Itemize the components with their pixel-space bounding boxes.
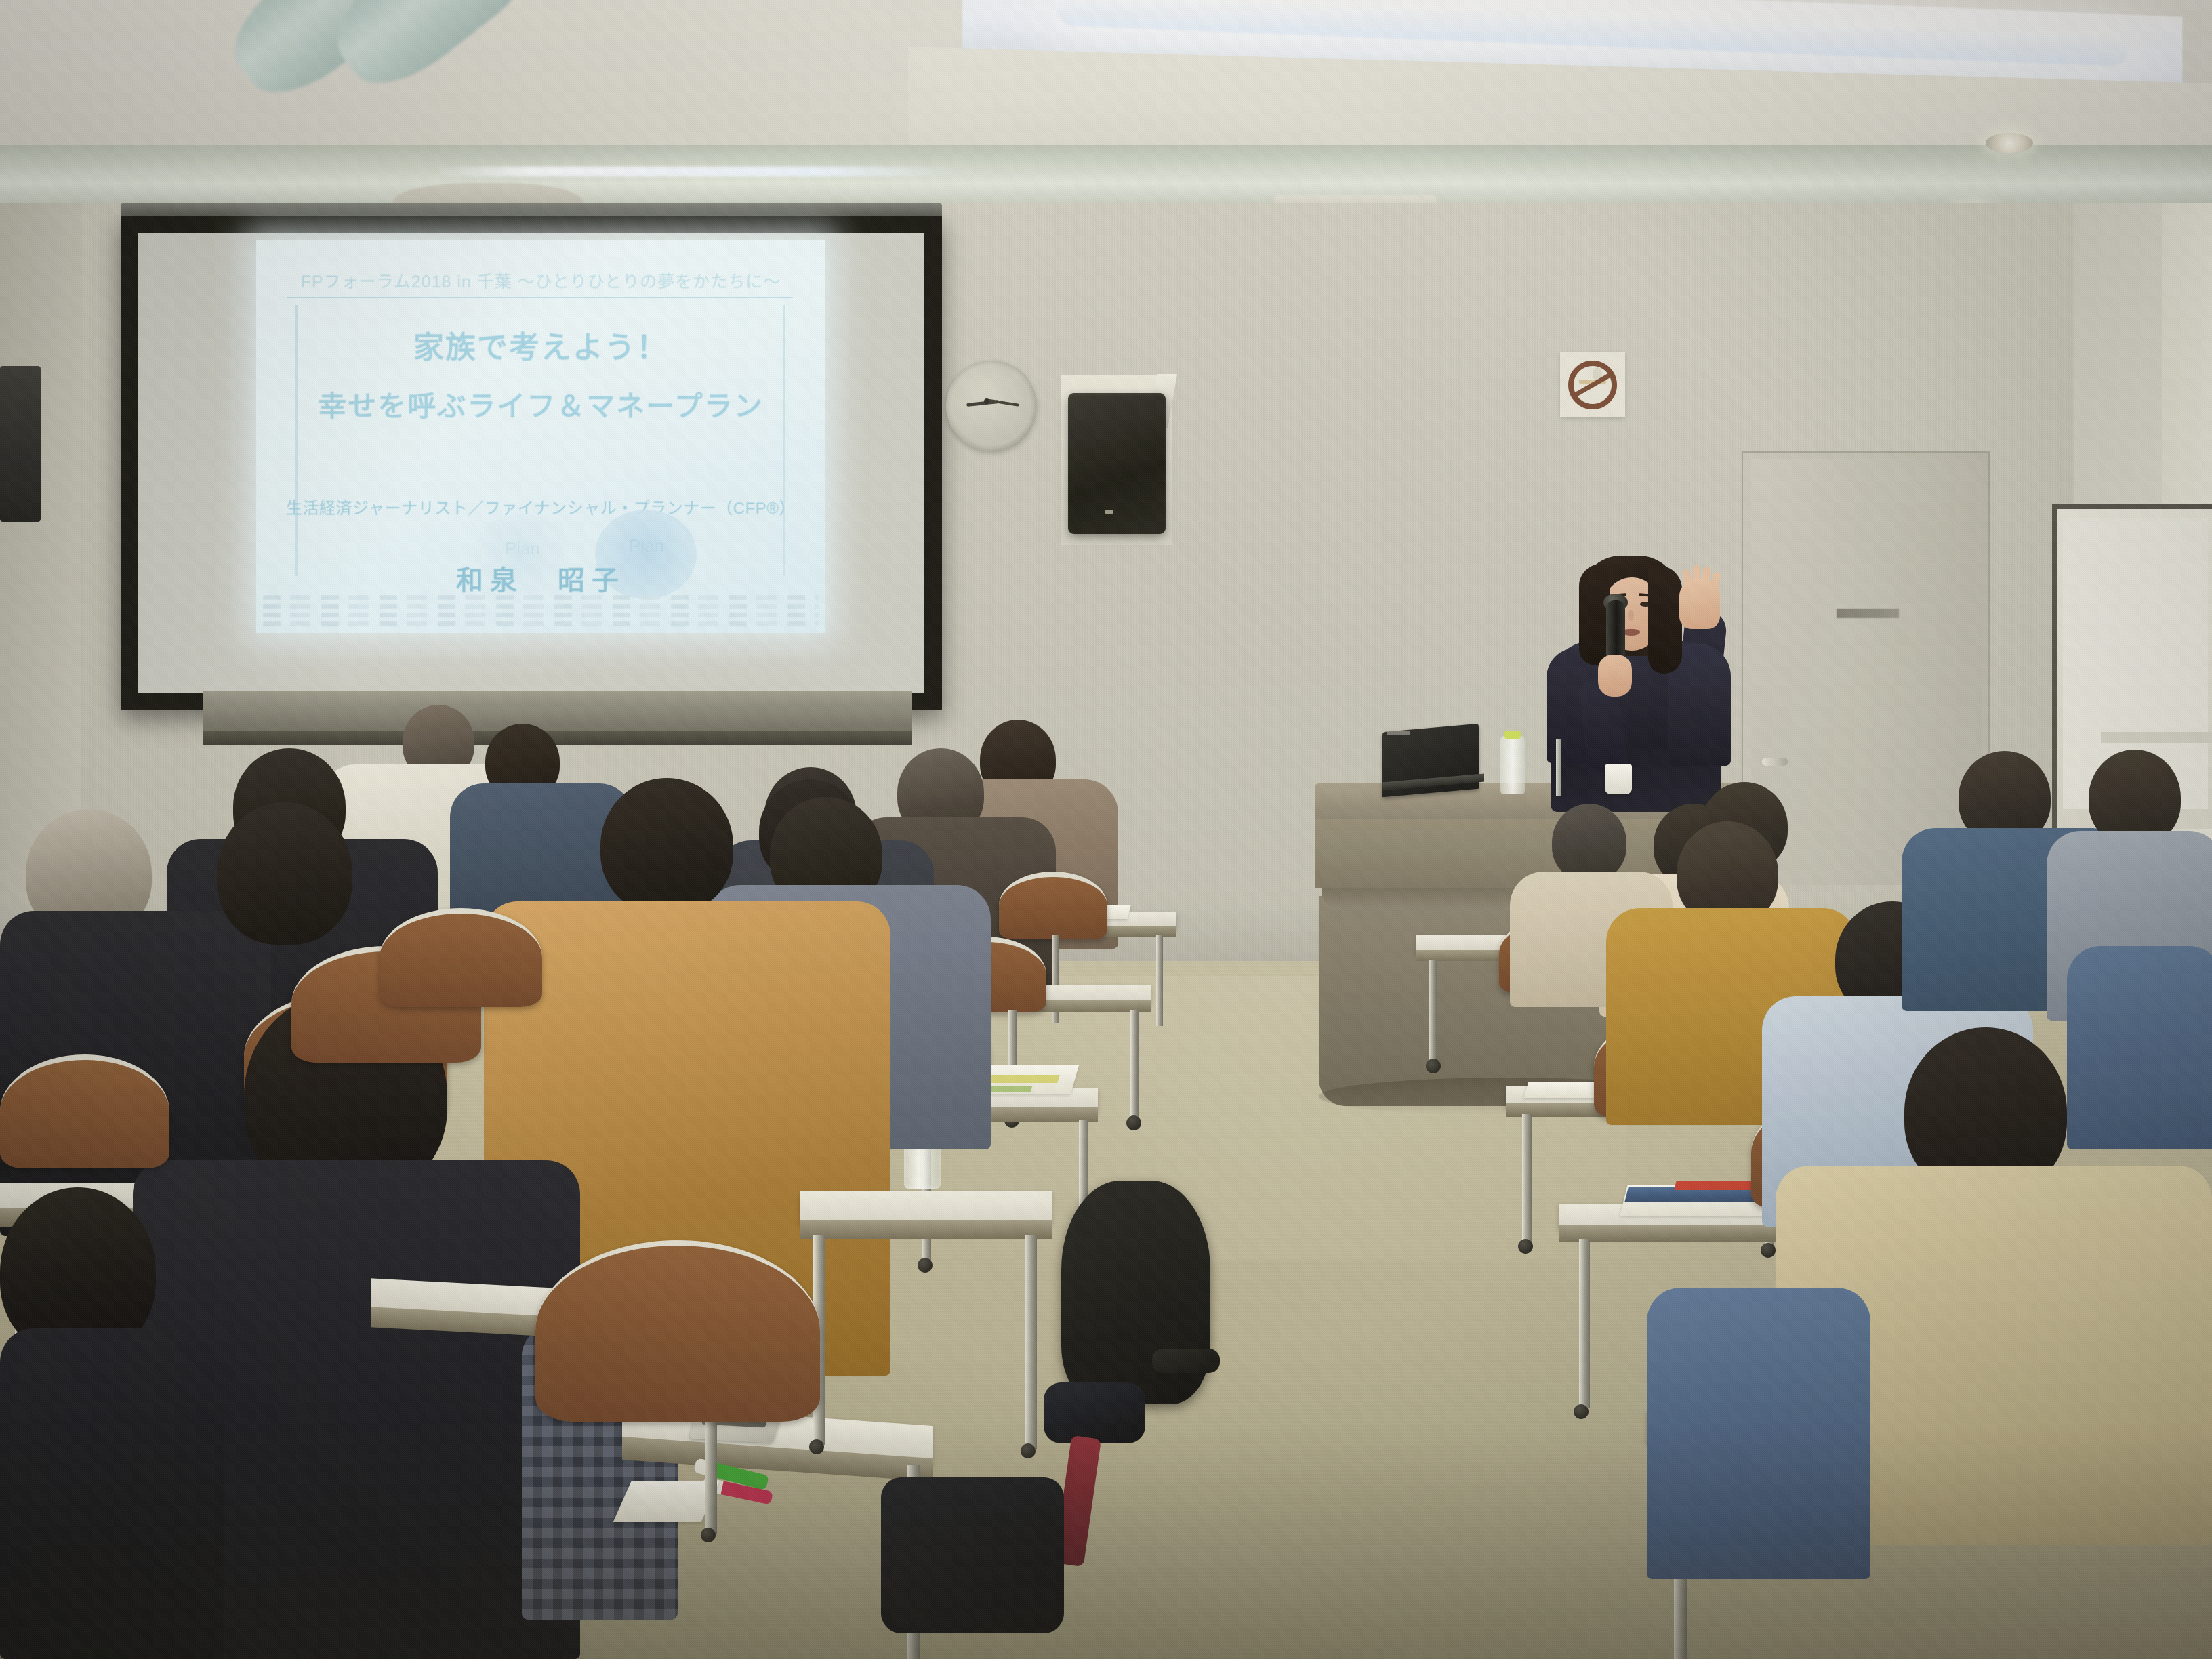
microphone-stand[interactable] (1556, 739, 1561, 796)
clock-center-pin (984, 398, 989, 404)
seminar-room-photo: FPフォーラム2018 in 千葉 ～ひとりひとりの夢をかたちに～ 家族で考えよ… (0, 0, 2212, 1659)
desk-leg (1522, 1114, 1532, 1243)
clock-face (951, 366, 1031, 446)
desk-caster (1426, 1059, 1441, 1073)
projection-screen-frame: FPフォーラム2018 in 千葉 ～ひとりひとりの夢をかたちに～ 家族で考えよ… (121, 216, 942, 710)
desk-leg (1156, 935, 1163, 1026)
chair[interactable] (999, 872, 1107, 939)
audience-head (600, 778, 733, 914)
desk-caster (1518, 1239, 1533, 1254)
desk-edge (800, 1220, 1052, 1239)
slide-kicker: FPフォーラム2018 in 千葉 ～ひとりひとりの夢をかたちに～ (256, 268, 825, 293)
slide-heading-1: 家族で考えよう！ (256, 323, 825, 367)
desk-leg (1025, 1235, 1037, 1449)
chair[interactable] (380, 908, 542, 1007)
presenter-hair-right (1648, 565, 1682, 674)
wall-clock (946, 361, 1037, 451)
slide-logo-right-text: Plan (599, 535, 694, 556)
desk (800, 1191, 1052, 1224)
audience-body (2067, 946, 2212, 1149)
slide-divider (287, 297, 793, 298)
speaker-led-icon (1105, 510, 1113, 514)
water-bottle[interactable] (1500, 736, 1525, 794)
ceiling-light-glow (434, 167, 962, 176)
desk-caster (1574, 1404, 1589, 1419)
audience-head (217, 802, 352, 945)
wall-speaker-left (0, 366, 41, 522)
screen-shelf-lip (203, 731, 912, 745)
slide-heading-2: 幸せを呼ぶライフ＆マネープラン (256, 384, 825, 425)
slide-footer-text (263, 595, 819, 632)
whiteboard-tray (2101, 732, 2212, 743)
wall-speaker (1068, 393, 1166, 534)
desk-caster (1126, 1115, 1141, 1130)
desk-caster (918, 1258, 933, 1273)
presenter-nose (1628, 610, 1634, 621)
bottle-cap (1504, 731, 1521, 739)
door-handle[interactable] (1762, 758, 1788, 766)
desk-leg (1579, 1239, 1590, 1408)
chair[interactable] (535, 1240, 820, 1422)
desk-caster (1761, 1243, 1776, 1258)
audience-head (1552, 804, 1626, 881)
paper-cup[interactable] (1605, 764, 1632, 794)
presenter-raised-hand (1679, 579, 1720, 629)
chair[interactable] (0, 1054, 169, 1168)
projected-slide: FPフォーラム2018 in 千葉 ～ひとりひとりの夢をかたちに～ 家族で考えよ… (256, 240, 825, 633)
backpack-strap (1152, 1349, 1220, 1373)
floor-foreground-shade (0, 1423, 2212, 1659)
laptop-screen-glare (1387, 731, 1410, 735)
screen-shelf (203, 691, 912, 736)
presenter-mic-hand (1598, 655, 1632, 697)
downlight-icon (1986, 133, 2033, 153)
desk-leg (1429, 960, 1437, 1061)
slide-logo-left-text: Plan (478, 538, 567, 559)
door-sign (1837, 609, 1899, 618)
slide-presenter-name: 和泉 昭子 (256, 558, 825, 598)
desk-leg (1130, 1010, 1139, 1118)
slide-presenter-role: 生活経済ジャーナリスト／ファイナンシャル・プランナー（CFP®） (256, 495, 825, 518)
